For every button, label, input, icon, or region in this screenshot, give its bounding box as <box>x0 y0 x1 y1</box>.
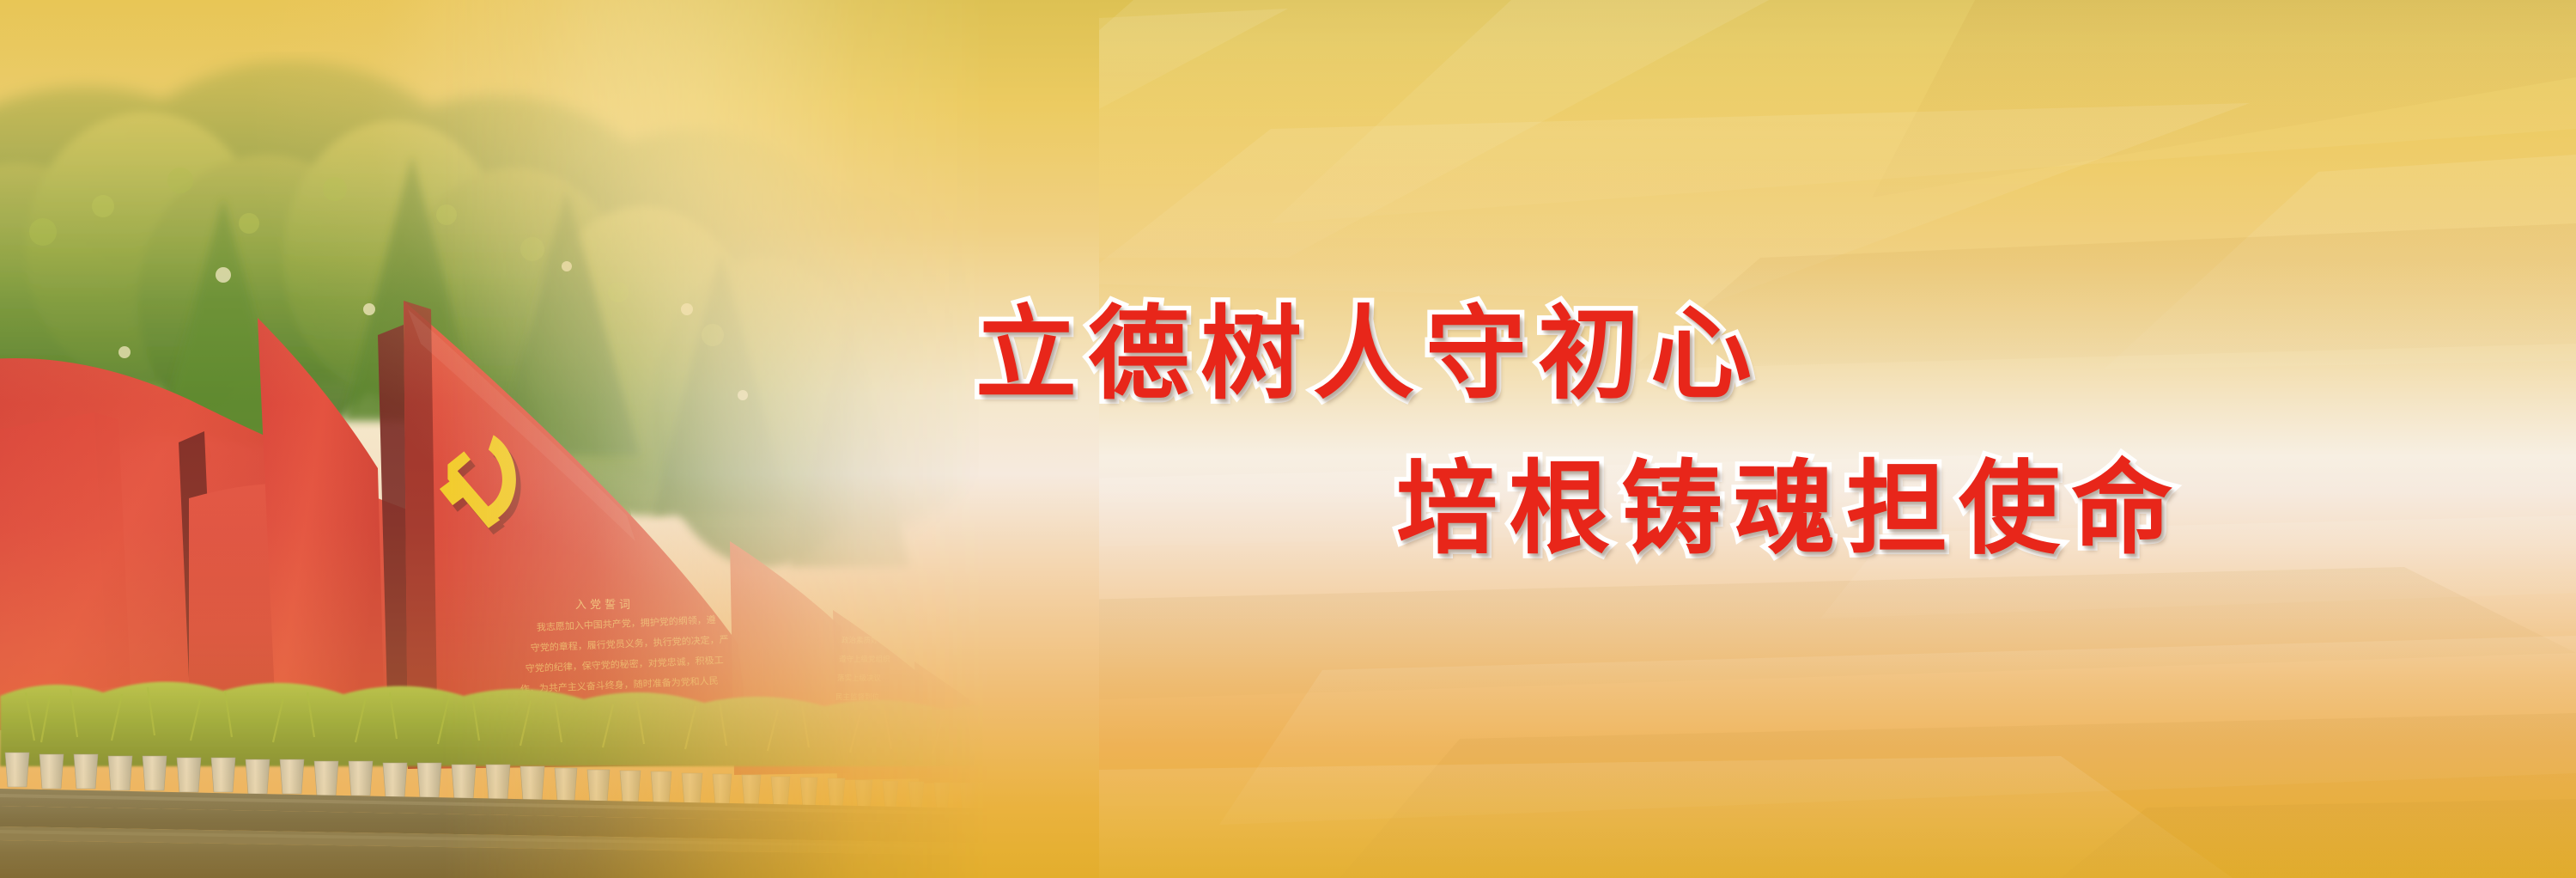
svg-text:政治素质好: 政治素质好 <box>841 636 878 645</box>
monument-photo: 入党誓词 我志愿加入中国共产党，拥护党的纲领，遵 守党的章程，履行党员义务，执行… <box>0 0 1099 878</box>
party-theme-banner: 入党誓词 我志愿加入中国共产党，拥护党的纲领，遵 守党的章程，履行党员义务，执行… <box>0 0 2576 878</box>
svg-text:遵守上级党组织: 遵守上级党组织 <box>839 655 890 664</box>
svg-text:入党誓词: 入党誓词 <box>575 599 634 612</box>
headline-line-2: 培根铸魂担使命 <box>1396 426 2184 573</box>
headline-line-1: 立德树人守初心 <box>975 271 1763 418</box>
planter-row-and-steps <box>0 680 1099 878</box>
